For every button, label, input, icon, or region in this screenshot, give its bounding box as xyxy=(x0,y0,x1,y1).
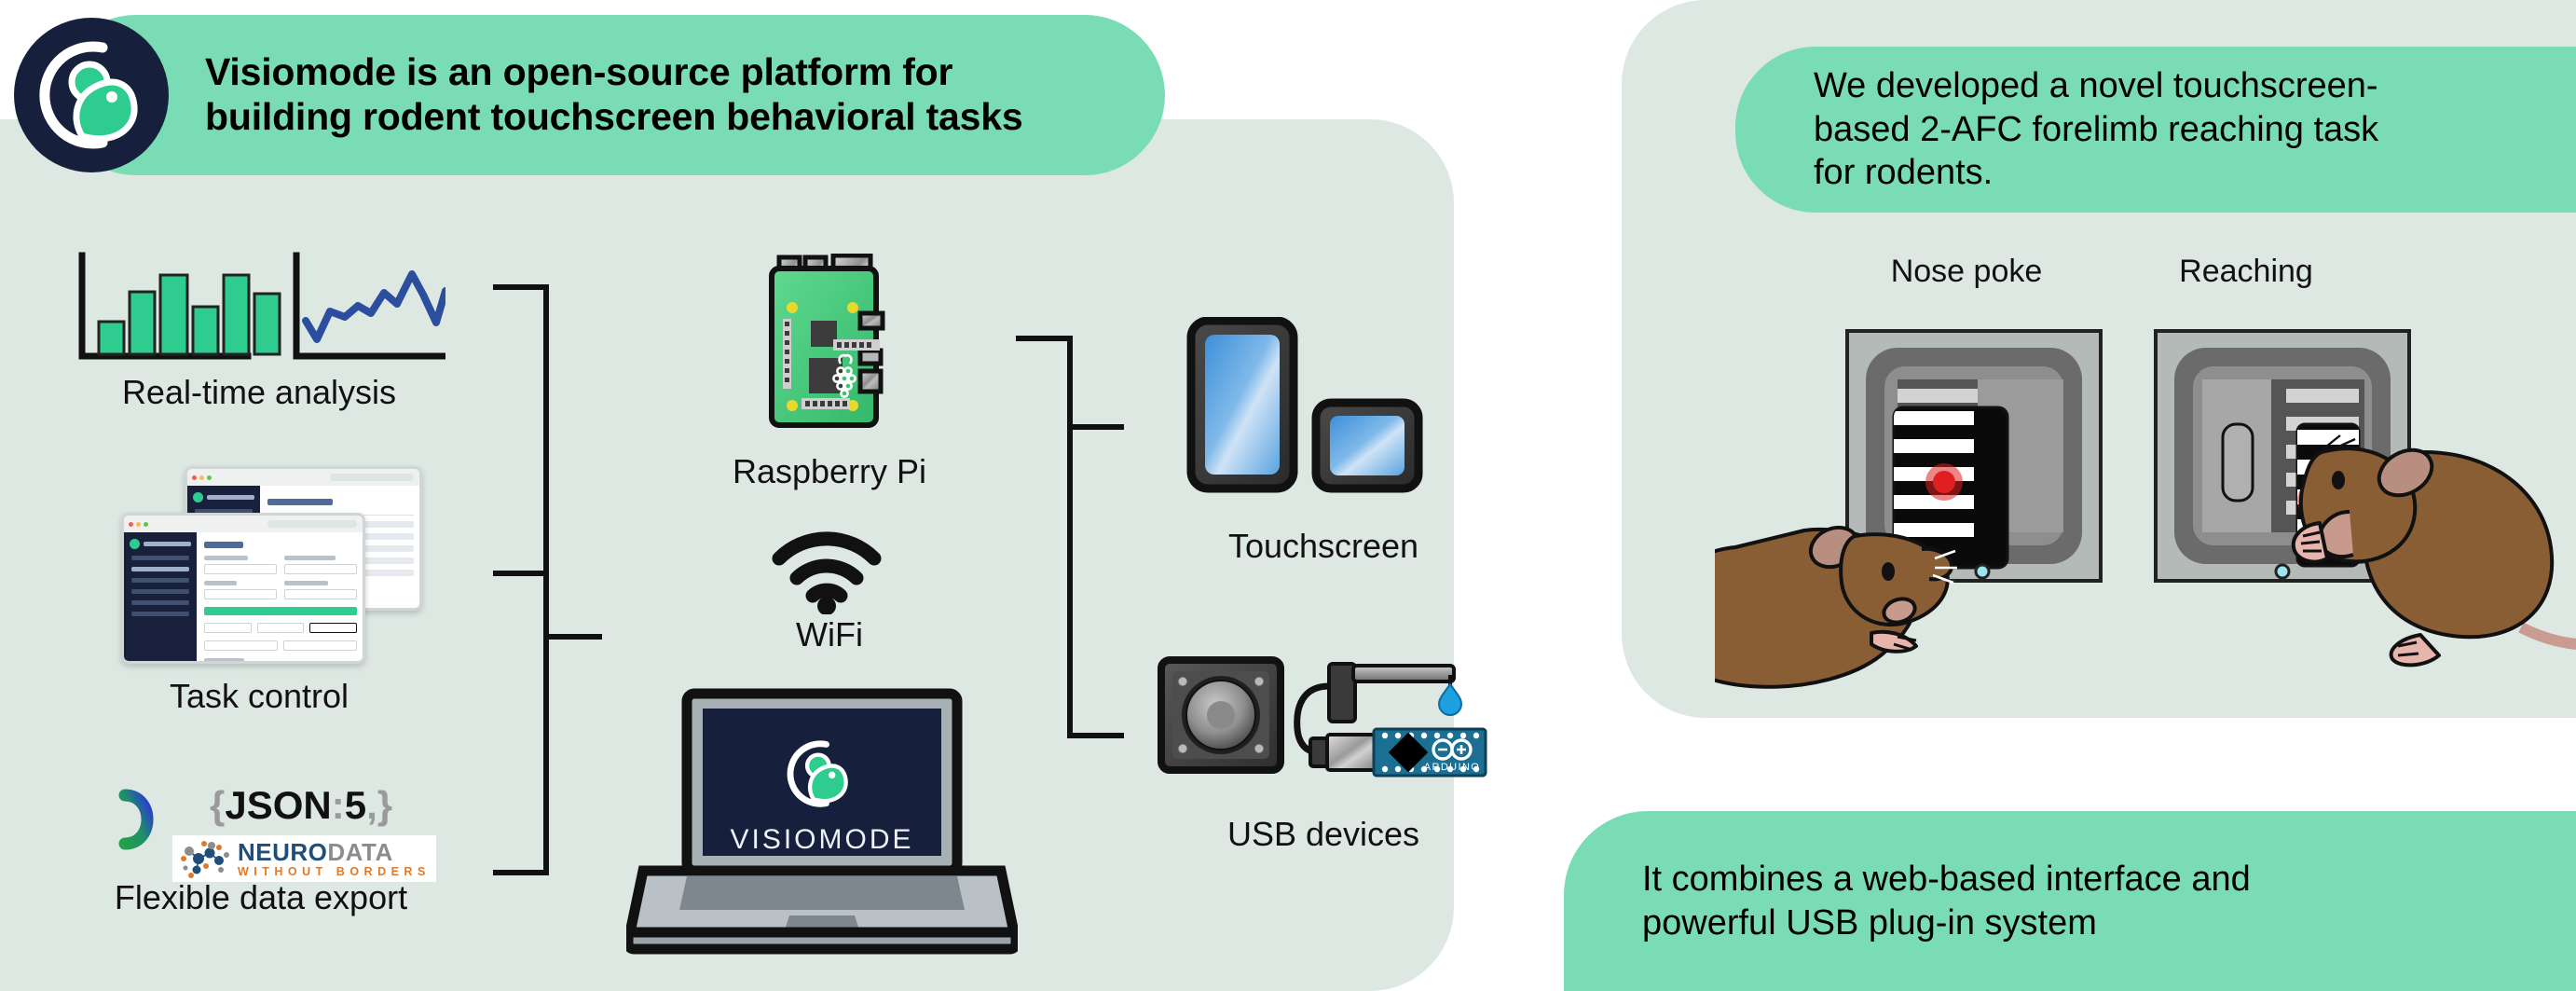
sidebar-item-dashboard[interactable] xyxy=(131,556,189,560)
number-input[interactable] xyxy=(283,640,357,651)
bracket-branch-analysis xyxy=(493,284,549,290)
minimize-icon xyxy=(199,475,204,480)
title-banner: Visiomode is an open-source platform for… xyxy=(56,15,1165,175)
close-icon xyxy=(192,475,197,480)
json5-brace-open: { xyxy=(210,783,225,827)
field-label xyxy=(204,658,244,663)
caption-raspberry-pi: Raspberry Pi xyxy=(652,452,1007,491)
form-heading xyxy=(204,542,243,548)
touchscreen-icon xyxy=(1185,317,1465,517)
close-icon xyxy=(129,522,133,527)
bracket-branch-export xyxy=(493,870,549,875)
select-input[interactable] xyxy=(204,589,277,599)
field-label xyxy=(204,581,237,585)
laptop-icon: VISIOMODE xyxy=(626,688,1018,963)
address-bar xyxy=(330,474,414,481)
wifi-icon xyxy=(768,527,885,619)
realtime-analysis-graphic xyxy=(73,250,445,371)
bracket-stub-from-hub xyxy=(1016,336,1073,341)
caption-wifi: WiFi xyxy=(652,615,1007,654)
page-title: Visiomode is an open-source platform for… xyxy=(205,50,1022,139)
sidebar-item-about[interactable] xyxy=(131,612,189,616)
sidebar-brand xyxy=(207,495,254,500)
window-titlebar xyxy=(187,469,419,486)
arduino-wordmark: ARDUINO xyxy=(1424,762,1481,773)
neurodata-without-borders-logo: NEURODATA WITHOUT BORDERS xyxy=(172,835,436,882)
json5-brace-close: ,} xyxy=(366,783,392,827)
action-button[interactable] xyxy=(309,623,357,633)
visiomode-logo-icon xyxy=(13,17,170,173)
laptop-screen-wordmark: VISIOMODE xyxy=(730,824,913,855)
nwb-network-icon xyxy=(178,838,232,879)
json5-logo: {JSON:5,} xyxy=(210,783,392,828)
callout-top-text: We developed a novel touchscreen- based … xyxy=(1814,64,2378,194)
field-label xyxy=(204,556,248,560)
address-bar xyxy=(267,520,357,528)
sidebar-item-help[interactable] xyxy=(131,600,189,605)
number-input[interactable] xyxy=(204,640,278,651)
bracket-branch-usb xyxy=(1067,733,1124,738)
caption-flexible-data-export: Flexible data export xyxy=(56,878,466,917)
task-control-window-front xyxy=(121,513,365,664)
json5-version: 5 xyxy=(345,783,366,827)
task-control-graphic xyxy=(121,466,429,653)
select-input[interactable] xyxy=(204,623,252,633)
nwb-tagline: WITHOUT BORDERS xyxy=(238,866,431,878)
select-input[interactable] xyxy=(257,623,305,633)
label-nose-poke: Nose poke xyxy=(1827,254,2106,290)
sidebar xyxy=(124,532,197,661)
bracket-spine xyxy=(1067,336,1073,738)
nwb-text-data: DATA xyxy=(327,838,392,866)
number-input[interactable] xyxy=(284,589,357,599)
bracket-branch-taskcontrol xyxy=(493,571,549,576)
minimize-icon xyxy=(136,522,141,527)
maximize-icon xyxy=(144,522,148,527)
caption-task-control: Task control xyxy=(73,677,445,716)
callout-bottom-text: It combines a web-based interface and po… xyxy=(1642,858,2251,944)
reaching-illustration xyxy=(2120,303,2576,699)
sidebar-item-session[interactable] xyxy=(131,567,189,571)
bracket-stub-to-hub xyxy=(543,634,602,640)
more-options-button[interactable] xyxy=(204,607,357,615)
text-input[interactable] xyxy=(284,564,357,574)
window-titlebar xyxy=(124,516,363,532)
sidebar-item-settings[interactable] xyxy=(131,589,189,594)
text-input[interactable] xyxy=(204,564,277,574)
bracket-spine xyxy=(543,284,549,875)
raspberry-pi-icon xyxy=(764,254,895,445)
window-content xyxy=(204,538,357,657)
usb-devices-icon: ARDUINO xyxy=(1154,653,1489,816)
field-label xyxy=(284,581,328,585)
sidebar-item-history[interactable] xyxy=(131,578,189,583)
label-reaching: Reaching xyxy=(2106,254,2386,290)
json5-colon: : xyxy=(332,783,345,827)
caption-realtime-analysis: Real-time analysis xyxy=(73,373,445,412)
callout-bottom-right: It combines a web-based interface and po… xyxy=(1564,811,2576,991)
field-label xyxy=(284,556,336,560)
caption-touchscreen: Touchscreen xyxy=(1146,527,1500,566)
sidebar-brand xyxy=(144,542,191,546)
maximize-icon xyxy=(207,475,212,480)
callout-top-right: We developed a novel touchscreen- based … xyxy=(1735,47,2576,213)
content-heading xyxy=(267,499,333,505)
bracket-branch-touchscreen xyxy=(1067,424,1124,430)
caption-usb-devices: USB devices xyxy=(1146,815,1500,854)
json5-name: JSON xyxy=(225,783,331,827)
sidebar-logo-icon xyxy=(193,492,203,502)
nwb-text-neuro: NEURO xyxy=(238,838,327,866)
sidebar-logo-icon xyxy=(130,539,140,549)
